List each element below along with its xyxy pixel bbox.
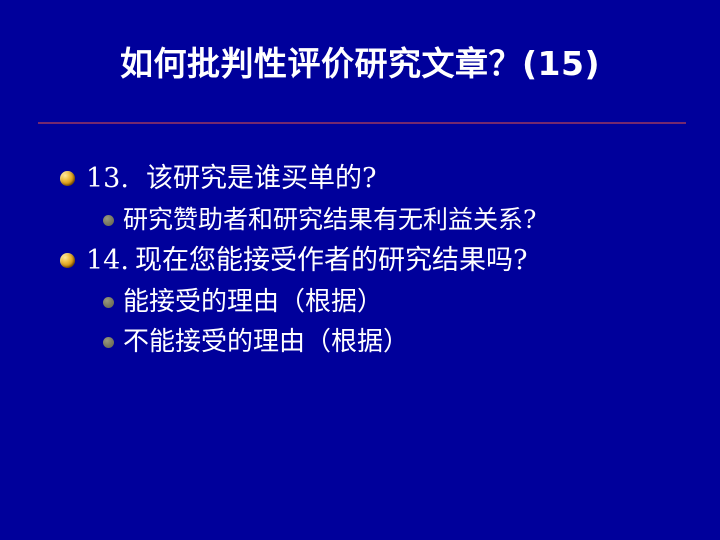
sub-bullet-item-14-1: 能接受的理由（根据） — [0, 282, 720, 322]
bullet-text-13: 该研究是谁买单的? — [146, 158, 376, 200]
gold-sphere-bullet-icon — [60, 253, 75, 268]
grey-disc-bullet-icon — [103, 297, 114, 308]
sub-bullet-text-14-2: 不能接受的理由（根据） — [123, 322, 409, 362]
bullet-text-14: 现在您能接受作者的研究结果吗? — [129, 240, 527, 282]
bullet-number-13: 13. — [86, 158, 129, 200]
sub-bullet-item-13-1: 研究赞助者和研究结果有无利益关系? — [0, 200, 720, 240]
presentation-slide: 如何批判性评价研究文章？(15) 13. 该研究是谁买单的? 研究赞助者和研究结… — [0, 0, 720, 540]
bullet-item-13: 13. 该研究是谁买单的? — [0, 158, 720, 200]
bullet-number-14: 14. — [86, 240, 129, 282]
gold-sphere-bullet-icon — [60, 171, 75, 186]
slide-title: 如何批判性评价研究文章？(15) — [0, 44, 720, 84]
title-divider — [38, 122, 686, 124]
bullet-item-14: 14. 现在您能接受作者的研究结果吗? — [0, 240, 720, 282]
sub-bullet-item-14-2: 不能接受的理由（根据） — [0, 322, 720, 362]
grey-disc-bullet-icon — [103, 337, 114, 348]
grey-disc-bullet-icon — [103, 215, 114, 226]
slide-body: 13. 该研究是谁买单的? 研究赞助者和研究结果有无利益关系? 14. 现在您能… — [0, 158, 720, 362]
sub-bullet-text-14-1: 能接受的理由（根据） — [123, 282, 383, 322]
sub-bullet-text-13-1: 研究赞助者和研究结果有无利益关系? — [123, 200, 536, 240]
